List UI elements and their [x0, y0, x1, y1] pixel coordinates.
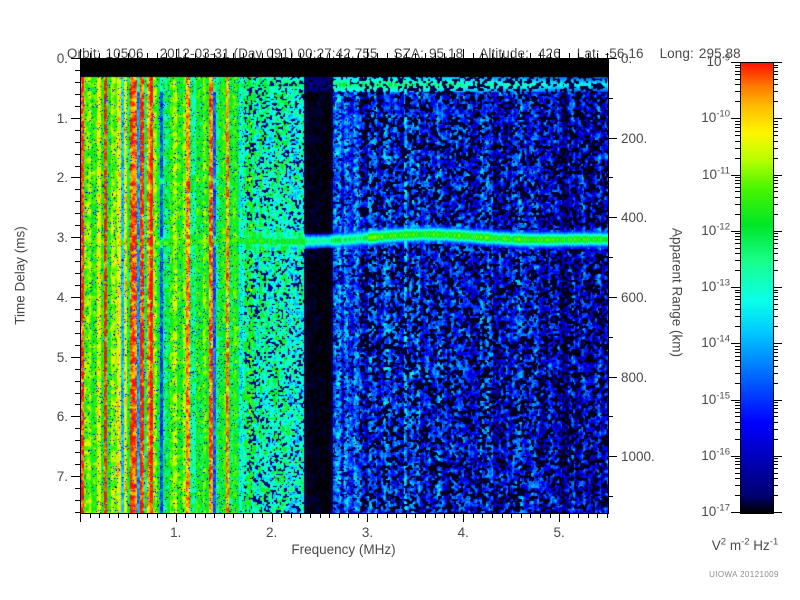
colorbar-tick	[735, 248, 740, 249]
colorbar-tick	[735, 349, 740, 350]
y-tick	[75, 201, 80, 202]
y2-tick	[608, 138, 617, 139]
colorbar-tick	[773, 74, 778, 75]
colorbar-tick	[731, 343, 740, 344]
colorbar-label-mantissa: 10	[701, 504, 716, 519]
y-tick	[75, 285, 80, 286]
colorbar-tick	[773, 326, 778, 327]
colorbar-tick	[731, 512, 740, 513]
x-tick	[320, 513, 321, 518]
x-tick-top	[185, 53, 186, 58]
y-tick	[75, 82, 80, 83]
colorbar-tick	[735, 180, 740, 181]
colorbar-tick	[773, 422, 778, 423]
x-tick	[511, 513, 512, 518]
x-tick	[310, 513, 311, 518]
colorbar-tick	[773, 180, 778, 181]
x-axis-title: Frequency (MHz)	[80, 542, 607, 557]
y-tick	[75, 369, 80, 370]
colorbar-tick	[735, 309, 740, 310]
colorbar-tick	[735, 366, 740, 367]
y-tick	[75, 154, 80, 155]
colorbar-tick	[735, 239, 740, 240]
colorbar-tick	[735, 243, 740, 244]
x-tick	[444, 513, 445, 518]
y-tick	[75, 142, 80, 143]
x-tick	[80, 513, 81, 522]
y-tick	[75, 333, 80, 334]
colorbar-tick	[773, 290, 778, 291]
colorbar-label-mantissa: 10	[702, 167, 717, 182]
colorbar-tick	[773, 405, 778, 406]
colorbar-tick	[773, 478, 778, 479]
x-tick-top	[387, 53, 388, 58]
colorbar-label-exponent: -15	[716, 390, 730, 401]
x-tick	[492, 513, 493, 518]
colorbar-tick	[735, 124, 740, 125]
y-tick	[75, 94, 80, 95]
x-tick-top	[291, 53, 292, 58]
colorbar-tick-label-13: 10-13	[662, 280, 730, 294]
colorbar-tick	[731, 287, 740, 288]
y-tick	[75, 309, 80, 310]
colorbar-tick	[773, 243, 778, 244]
colorbar-tick	[773, 495, 778, 496]
x-tick-top	[339, 53, 340, 58]
colorbar-tick	[735, 131, 740, 132]
colorbar-tick	[735, 326, 740, 327]
colorbar-tick	[773, 346, 778, 347]
x-tick-top	[300, 53, 301, 58]
x-tick-top	[482, 53, 483, 58]
x-tick	[291, 513, 292, 518]
colorbar-tick	[735, 233, 740, 234]
x-tick-top	[511, 53, 512, 58]
x-tick	[569, 513, 570, 518]
colorbar-tick	[773, 214, 778, 215]
x-tick-top	[329, 53, 330, 58]
y-tick	[71, 118, 80, 119]
colorbar-tick	[773, 304, 778, 305]
y-tick	[75, 428, 80, 429]
x-tick	[396, 513, 397, 518]
colorbar-tick	[773, 360, 778, 361]
colorbar-tick	[773, 429, 778, 430]
colorbar-tick	[731, 175, 740, 176]
y-tick	[75, 166, 80, 167]
x-tick-top	[540, 53, 541, 58]
x-tick	[502, 513, 503, 518]
colorbar-tick	[773, 124, 778, 125]
y-tick	[75, 106, 80, 107]
colorbar-tick	[735, 158, 740, 159]
y-tick-label-6: 6.	[18, 410, 68, 424]
x-tick	[137, 513, 138, 518]
colorbar-tick	[735, 405, 740, 406]
x-tick	[109, 513, 110, 518]
colorbar-tick	[773, 383, 778, 384]
colorbar-tick	[735, 292, 740, 293]
colorbar-tick	[735, 439, 740, 440]
colorbar-tick	[731, 231, 740, 232]
x-tick-top	[463, 49, 464, 58]
x-tick	[607, 513, 608, 518]
colorbar-tick	[731, 62, 740, 63]
x-tick-top	[320, 53, 321, 58]
x-tick-label-4: 4.	[433, 526, 493, 540]
x-tick-top	[569, 53, 570, 58]
x-tick-top	[252, 53, 253, 58]
colorbar-tick	[735, 67, 740, 68]
y-tick	[71, 58, 80, 59]
x-tick	[185, 513, 186, 518]
colorbar-tick	[735, 290, 740, 291]
colorbar-tick	[773, 456, 782, 457]
x-tick	[387, 513, 388, 518]
y-axis-title: Time Delay (ms)	[13, 196, 28, 356]
x-tick-top	[281, 53, 282, 58]
x-tick-top	[502, 53, 503, 58]
colorbar-tick	[773, 183, 778, 184]
colorbar-tick	[773, 197, 778, 198]
x-tick	[521, 513, 522, 518]
x-tick-top	[530, 53, 531, 58]
x-tick-top	[588, 53, 589, 58]
colorbar-label-exponent: -13	[716, 278, 730, 289]
x-tick	[262, 513, 263, 518]
y-tick	[75, 452, 80, 453]
colorbar-tick	[735, 214, 740, 215]
x-tick	[147, 513, 148, 518]
colorbar-tick	[773, 485, 778, 486]
x-tick	[195, 513, 196, 518]
x-tick	[348, 513, 349, 518]
colorbar-tick-label-12: 10-12	[662, 224, 730, 238]
y-tick	[75, 440, 80, 441]
x-tick	[425, 513, 426, 518]
colorbar-label-exponent: -12	[716, 221, 730, 232]
x-tick	[205, 513, 206, 518]
x-tick-top	[243, 53, 244, 58]
y2-tick-label-200: 200.	[621, 132, 681, 146]
x-tick	[415, 513, 416, 518]
colorbar-tick	[735, 373, 740, 374]
y-tick-label-1: 1.	[18, 112, 68, 126]
colorbar-tick	[773, 239, 778, 240]
colorbar-tick	[773, 187, 778, 188]
x-tick	[281, 513, 282, 518]
colorbar-tick	[735, 296, 740, 297]
x-tick-top	[473, 53, 474, 58]
colorbar-tick	[735, 253, 740, 254]
colorbar-tick	[773, 292, 778, 293]
y-tick	[71, 476, 80, 477]
colorbar-tick	[735, 356, 740, 357]
x-tick-top	[425, 53, 426, 58]
y-tick	[75, 381, 80, 382]
y2-tick	[608, 217, 617, 218]
colorbar-tick	[773, 461, 778, 462]
x-tick	[597, 513, 598, 518]
y2-tick	[608, 58, 617, 59]
x-tick	[454, 513, 455, 518]
colorbar-tick	[735, 429, 740, 430]
y2-tick	[608, 297, 617, 298]
y-tick	[75, 345, 80, 346]
colorbar-tick	[735, 412, 740, 413]
x-tick-top	[128, 53, 129, 58]
colorbar-tick	[735, 464, 740, 465]
colorbar-tick	[735, 141, 740, 142]
x-tick	[482, 513, 483, 518]
y-tick	[75, 225, 80, 226]
unit-m: m	[726, 538, 741, 553]
x-tick-top	[214, 53, 215, 58]
colorbar-tick-label-16: 10-16	[662, 449, 730, 463]
colorbar-tick	[735, 402, 740, 403]
colorbar-tick	[773, 62, 782, 63]
x-tick	[272, 513, 273, 522]
unit-m-exp: -2	[741, 537, 749, 548]
x-tick-label-2: 2.	[242, 526, 302, 540]
unit-hz: Hz	[750, 538, 770, 553]
colorbar-tick	[735, 270, 740, 271]
x-tick-top	[205, 53, 206, 58]
colorbar-tick	[735, 352, 740, 353]
colorbar-tick	[773, 91, 778, 92]
colorbar-tick	[773, 71, 778, 72]
x-tick	[329, 513, 330, 518]
y-tick	[75, 130, 80, 131]
x-tick	[530, 513, 531, 518]
colorbar-tick	[773, 356, 778, 357]
x-tick	[99, 513, 100, 518]
y-tick	[75, 70, 80, 71]
y-tick	[75, 488, 80, 489]
colorbar-label-exponent: -17	[716, 503, 730, 514]
x-tick	[550, 513, 551, 518]
colorbar-tick	[735, 416, 740, 417]
colorbar-tick	[735, 458, 740, 459]
y-tick	[71, 177, 80, 178]
colorbar-label-exponent: -10	[716, 109, 730, 120]
colorbar	[740, 62, 774, 514]
colorbar-tick	[735, 197, 740, 198]
colorbar-tick	[773, 316, 778, 317]
colorbar-label-mantissa: 10	[701, 448, 716, 463]
y-tick	[75, 512, 80, 513]
y-tick-label-7: 7.	[18, 470, 68, 484]
colorbar-tick	[773, 352, 778, 353]
colorbar-tick	[735, 74, 740, 75]
colorbar-tick	[735, 360, 740, 361]
y-tick	[71, 357, 80, 358]
x-tick-top	[99, 53, 100, 58]
colorbar-tick	[735, 187, 740, 188]
x-tick	[157, 513, 158, 518]
colorbar-tick	[773, 236, 778, 237]
x-tick	[367, 513, 368, 522]
colorbar-tick	[773, 400, 782, 401]
colorbar-tick	[773, 468, 778, 469]
colorbar-tick	[773, 121, 778, 122]
colorbar-label-mantissa: 10	[701, 335, 716, 350]
x-tick	[90, 513, 91, 518]
colorbar-label-exponent: -16	[716, 446, 730, 457]
colorbar-tick	[773, 101, 778, 102]
y2-tick	[608, 257, 613, 258]
colorbar-label-exponent: -9	[722, 53, 730, 64]
x-tick	[406, 513, 407, 518]
colorbar-tick	[773, 512, 782, 513]
colorbar-tick	[735, 485, 740, 486]
colorbar-tick	[773, 408, 778, 409]
colorbar-tick	[773, 148, 778, 149]
x-tick-top	[578, 53, 579, 58]
colorbar-tick	[773, 473, 778, 474]
colorbar-tick	[735, 304, 740, 305]
x-tick	[473, 513, 474, 518]
colorbar-tick	[735, 260, 740, 261]
colorbar-tick	[773, 118, 782, 119]
colorbar-label-mantissa: 10	[701, 392, 716, 407]
credit-text: UIOWA 20121009	[690, 570, 798, 579]
colorbar-label-mantissa: 10	[707, 54, 722, 69]
colorbar-tick	[735, 191, 740, 192]
colorbar-tick-label-14: 10-14	[662, 336, 730, 350]
unit-hz-exp: -1	[770, 537, 778, 548]
x-tick-top	[358, 53, 359, 58]
colorbar-tick	[773, 158, 778, 159]
x-tick	[435, 513, 436, 518]
y-tick-label-2: 2.	[18, 171, 68, 185]
x-tick-top	[195, 53, 196, 58]
colorbar-tick	[735, 91, 740, 92]
x-tick-top	[492, 53, 493, 58]
colorbar-tick	[773, 309, 778, 310]
x-tick-top	[377, 53, 378, 58]
colorbar-tick	[735, 408, 740, 409]
colorbar-tick	[735, 148, 740, 149]
x-tick-top	[157, 53, 158, 58]
colorbar-tick-label-15: 10-15	[662, 393, 730, 407]
y-tick	[75, 500, 80, 501]
x-tick-top	[435, 53, 436, 58]
colorbar-tick	[735, 71, 740, 72]
colorbar-tick	[773, 248, 778, 249]
colorbar-label-mantissa: 10	[701, 279, 716, 294]
y-tick	[75, 464, 80, 465]
colorbar-label-exponent: -11	[717, 165, 730, 176]
x-tick-top	[90, 53, 91, 58]
x-tick-top	[224, 53, 225, 58]
x-tick-top	[80, 49, 81, 58]
colorbar-tick	[735, 316, 740, 317]
y-tick	[75, 404, 80, 405]
y-tick	[75, 393, 80, 394]
x-tick	[233, 513, 234, 518]
y-tick	[71, 297, 80, 298]
colorbar-tick	[735, 461, 740, 462]
x-tick	[128, 513, 129, 518]
colorbar-gradient	[741, 63, 773, 513]
x-tick-top	[396, 53, 397, 58]
x-tick	[339, 513, 340, 518]
y-tick	[75, 189, 80, 190]
colorbar-tick	[773, 373, 778, 374]
colorbar-tick	[735, 65, 740, 66]
colorbar-tick	[735, 478, 740, 479]
colorbar-tick	[735, 204, 740, 205]
colorbar-tick	[773, 127, 778, 128]
colorbar-tick-label-11: 10-11	[662, 168, 730, 182]
x-tick	[176, 513, 177, 522]
x-tick-top	[559, 49, 560, 58]
x-tick	[559, 513, 560, 522]
x-tick-top	[118, 53, 119, 58]
colorbar-tick	[731, 400, 740, 401]
y2-tick	[608, 416, 613, 417]
x-tick-top	[272, 49, 273, 58]
x-tick-top	[348, 53, 349, 58]
y2-tick	[608, 456, 617, 457]
colorbar-tick	[735, 101, 740, 102]
x-tick-top	[176, 49, 177, 58]
x-tick	[377, 513, 378, 518]
colorbar-tick	[773, 175, 782, 176]
x-tick-top	[310, 53, 311, 58]
y-tick	[75, 273, 80, 274]
ionogram-plot-area	[80, 58, 609, 514]
colorbar-tick	[773, 233, 778, 234]
y2-tick	[608, 496, 613, 497]
x-tick-top	[233, 53, 234, 58]
x-tick-top	[262, 53, 263, 58]
x-tick-top	[406, 53, 407, 58]
colorbar-tick	[773, 131, 778, 132]
y-tick	[71, 416, 80, 417]
x-tick-top	[367, 49, 368, 58]
y2-tick	[608, 98, 613, 99]
colorbar-tick	[735, 299, 740, 300]
y2-tick	[608, 177, 613, 178]
spectrogram-heatmap	[81, 59, 608, 513]
colorbar-tick	[735, 127, 740, 128]
colorbar-tick	[773, 270, 778, 271]
colorbar-tick	[773, 412, 778, 413]
colorbar-tick	[735, 383, 740, 384]
colorbar-tick	[735, 473, 740, 474]
colorbar-label-exponent: -14	[716, 334, 730, 345]
x-tick	[214, 513, 215, 518]
x-tick	[166, 513, 167, 518]
colorbar-tick	[773, 177, 778, 178]
colorbar-tick	[735, 84, 740, 85]
x-tick	[224, 513, 225, 518]
y2-tick	[608, 337, 613, 338]
x-tick-top	[597, 53, 598, 58]
colorbar-tick	[735, 495, 740, 496]
colorbar-tick	[773, 464, 778, 465]
x-tick-top	[137, 53, 138, 58]
colorbar-tick	[731, 118, 740, 119]
x-tick-top	[454, 53, 455, 58]
colorbar-tick	[773, 141, 778, 142]
x-tick	[243, 513, 244, 518]
colorbar-tick	[735, 177, 740, 178]
colorbar-tick	[773, 439, 778, 440]
colorbar-tick	[735, 422, 740, 423]
